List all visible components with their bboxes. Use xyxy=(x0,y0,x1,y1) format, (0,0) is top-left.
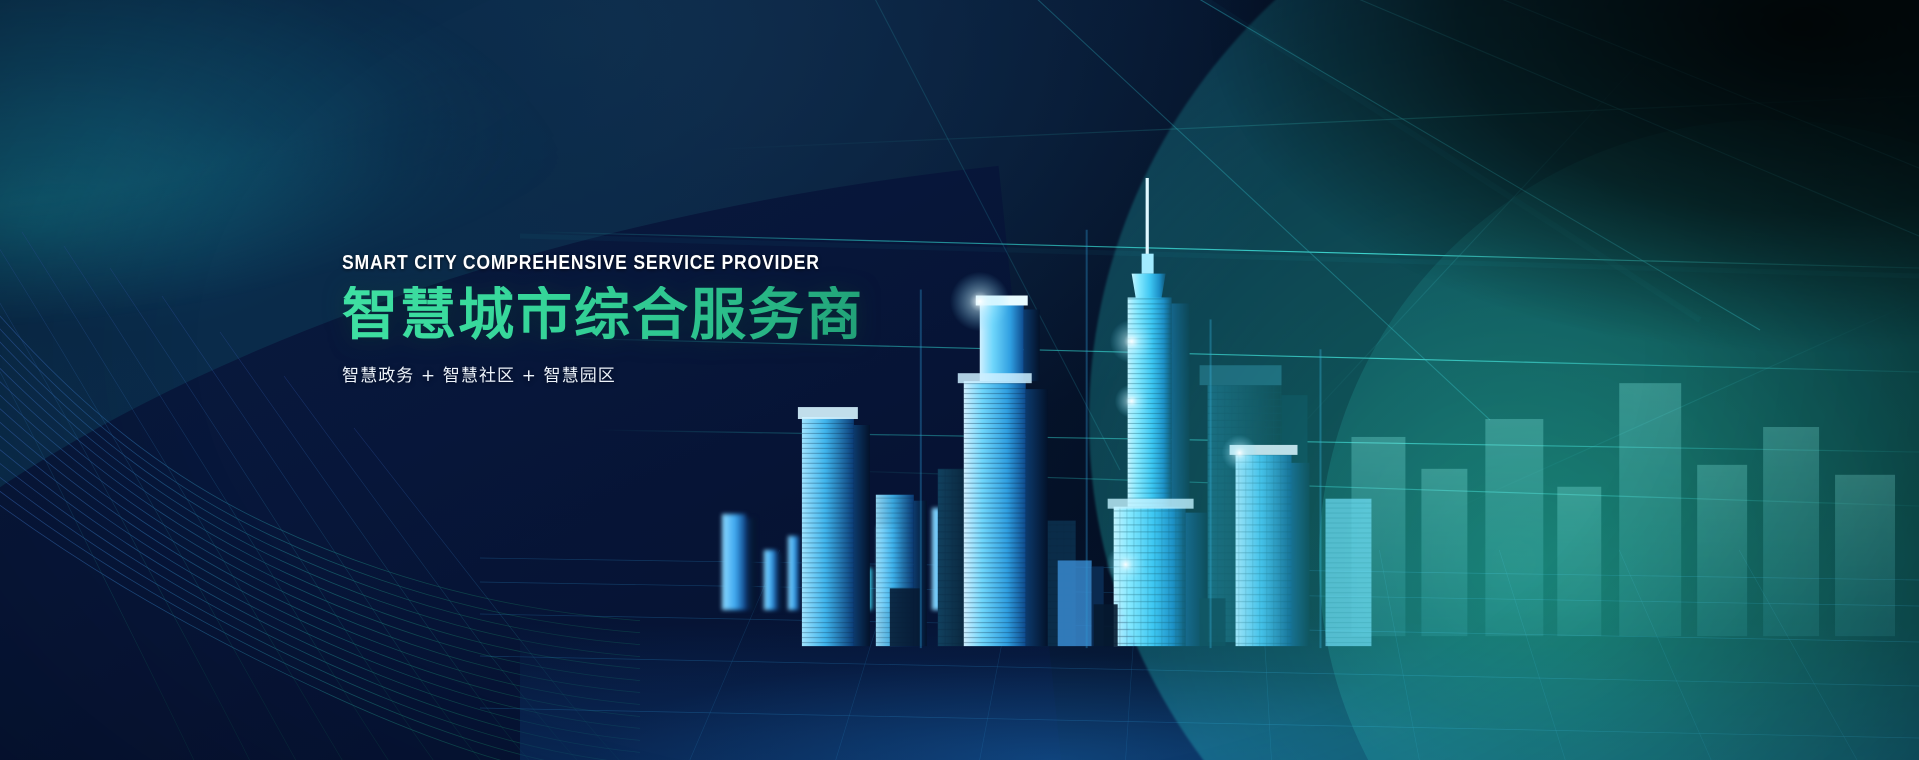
hero-eyebrow: SMART CITY COMPREHENSIVE SERVICE PROVIDE… xyxy=(342,253,958,273)
smart-city-hero-banner: SMART CITY COMPREHENSIVE SERVICE PROVIDE… xyxy=(0,0,1919,760)
hero-headline: 智慧城市综合服务商 xyxy=(342,286,1042,345)
hero-text-block: SMART CITY COMPREHENSIVE SERVICE PROVIDE… xyxy=(342,253,1042,386)
hero-subheadline: 智慧政务 + 智慧社区 + 智慧园区 xyxy=(342,361,1042,386)
sky-shadow-overlay xyxy=(1139,0,1919,420)
